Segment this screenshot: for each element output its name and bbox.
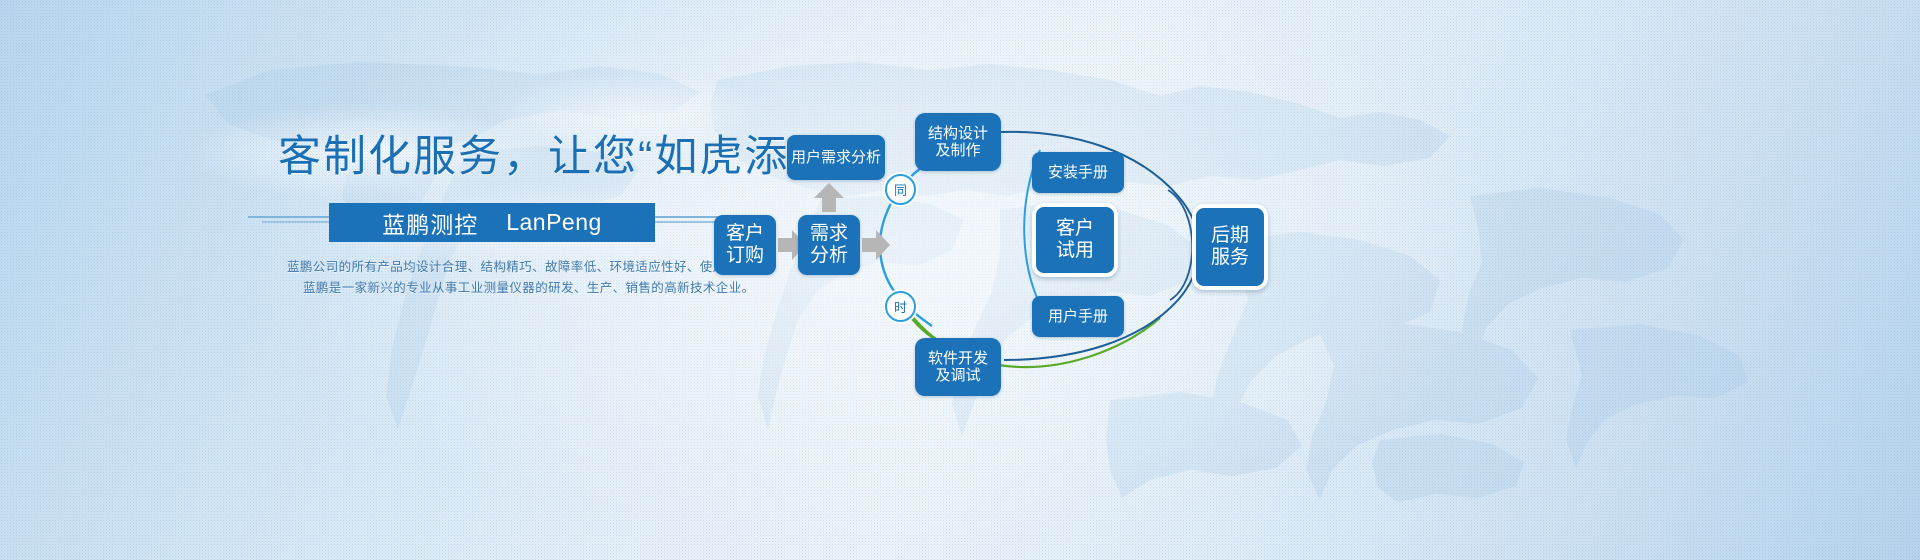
- flow-node-structure-design[interactable]: 结构设计 及制作: [915, 113, 1001, 171]
- flow-node-software-development[interactable]: 软件开发 及调试: [915, 338, 1001, 396]
- flow-node-customer-trial[interactable]: 客户 试用: [1032, 203, 1118, 277]
- flow-node-install-manual[interactable]: 安装手册: [1032, 152, 1124, 193]
- flow-node-requirement-analysis[interactable]: 需求 分析: [798, 215, 860, 275]
- flow-node-structure-design-label: 结构设计 及制作: [928, 125, 988, 160]
- flow-node-requirement-analysis-label: 需求 分析: [810, 223, 848, 267]
- flow-node-user-manual[interactable]: 用户手册: [1032, 296, 1124, 337]
- flow-node-after-service[interactable]: 后期 服务: [1192, 204, 1268, 290]
- flow-node-customer-trial-label: 客户 试用: [1056, 218, 1094, 262]
- flow-node-customer-order-label: 客户 订购: [726, 223, 764, 267]
- flow-node-customer-order[interactable]: 客户 订购: [714, 215, 776, 275]
- circle-marker-tong: 同: [885, 174, 916, 205]
- banner-stage: 客制化服务，让您“如虎添翼” 蓝鹏测控 LanPeng 蓝鹏公司的所有产品均设计…: [0, 0, 1920, 560]
- circle-marker-shi: 时: [885, 291, 916, 322]
- flow-node-software-development-label: 软件开发 及调试: [928, 350, 988, 385]
- flow-node-after-service-label: 后期 服务: [1211, 225, 1249, 269]
- flow-node-user-requirement[interactable]: 用户需求分析: [787, 135, 885, 180]
- flow-connectors: [0, 0, 1920, 560]
